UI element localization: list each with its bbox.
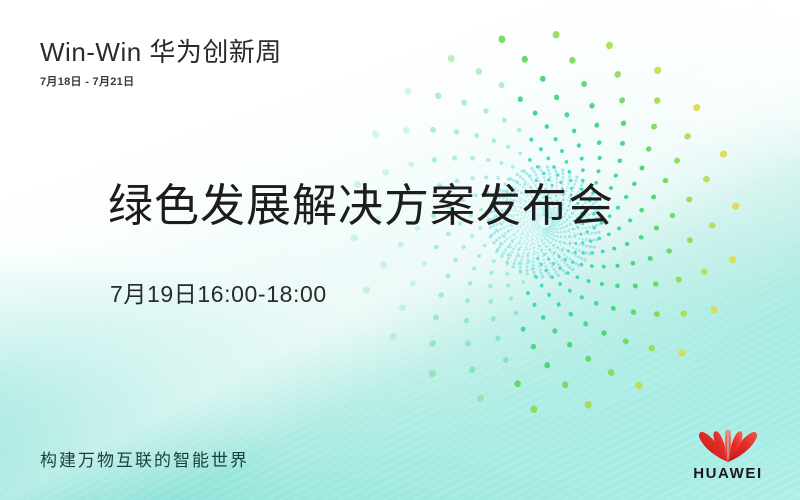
event-header: Win-Win 华为创新周 7月18日 - 7月21日 bbox=[40, 38, 282, 89]
event-title: Win-Win 华为创新周 bbox=[40, 38, 282, 68]
brand-tagline: 构建万物互联的智能世界 bbox=[40, 446, 249, 471]
huawei-flower-icon bbox=[694, 429, 762, 463]
page-title: 绿色发展解决方案发布会 bbox=[108, 183, 614, 228]
huawei-wordmark: HUAWEI bbox=[693, 465, 763, 482]
session-time: 7月19日16:00-18:00 bbox=[110, 275, 327, 309]
huawei-logo: HUAWEI bbox=[682, 429, 774, 482]
event-dates: 7月18日 - 7月21日 bbox=[40, 73, 282, 89]
poster-root: Win-Win 华为创新周 7月18日 - 7月21日 绿色发展解决方案发布会 … bbox=[0, 0, 800, 500]
